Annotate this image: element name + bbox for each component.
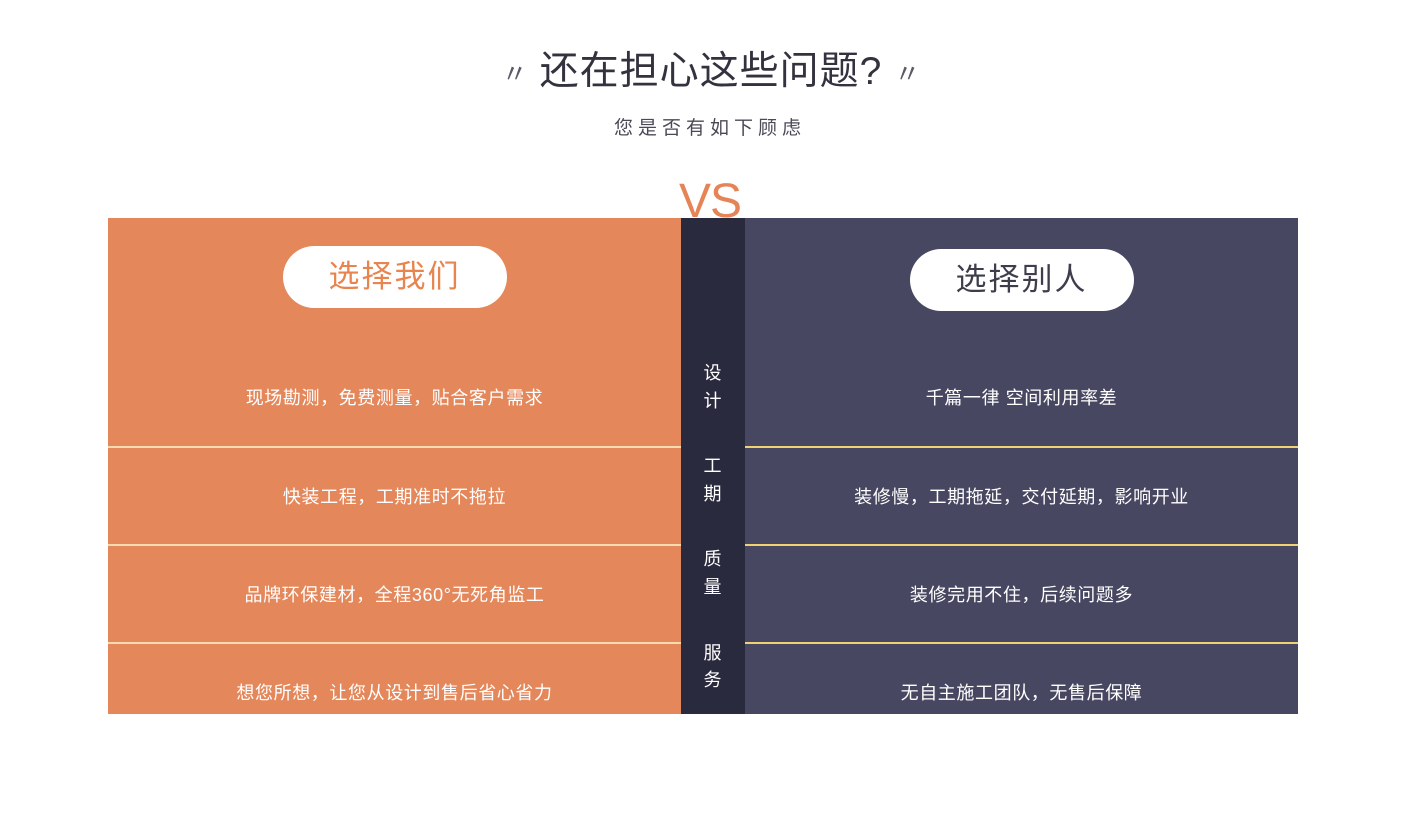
criteria-char: 量 — [704, 574, 723, 602]
close-quote-icon: 〃 — [894, 62, 918, 88]
comparison-board: 选择我们 现场勘测，免费测量，贴合客户需求 快装工程，工期准时不拖拉 品牌环保建… — [108, 218, 1298, 714]
table-row: 无自主施工团队，无售后保障 — [745, 642, 1298, 740]
title-row: 〃 还在担心这些问题? 〃 — [0, 52, 1420, 91]
criteria-char: 期 — [704, 481, 723, 509]
open-quote-icon: 〃 — [502, 62, 526, 88]
page-title: 还在担心这些问题? — [540, 52, 883, 91]
criteria-char: 工 — [704, 453, 723, 481]
criteria-char: 设 — [704, 360, 723, 388]
ours-header: 选择我们 — [108, 218, 681, 348]
criteria-label-design: 设 计 — [681, 342, 745, 435]
table-row: 想您所想，让您从设计到售后省心省力 — [108, 642, 681, 740]
table-row: 装修完用不住，后续问题多 — [745, 544, 1298, 642]
column-ours: 选择我们 现场勘测，免费测量，贴合客户需求 快装工程，工期准时不拖拉 品牌环保建… — [108, 218, 681, 714]
column-others: 选择别人 千篇一律 空间利用率差 装修慢，工期拖延，交付延期，影响开业 装修完用… — [745, 218, 1298, 714]
table-row: 快装工程，工期准时不拖拉 — [108, 446, 681, 544]
criteria-header-spacer — [681, 218, 745, 342]
page-subtitle: 您是否有如下顾虑 — [0, 113, 1420, 140]
table-row: 现场勘测，免费测量，贴合客户需求 — [108, 348, 681, 446]
table-row: 装修慢，工期拖延，交付延期，影响开业 — [745, 446, 1298, 544]
ours-row-list: 现场勘测，免费测量，贴合客户需求 快装工程，工期准时不拖拉 品牌环保建材，全程3… — [108, 348, 681, 740]
others-pill-label: 选择别人 — [910, 249, 1134, 311]
column-criteria: 设 计 工 期 质 量 服 务 — [681, 218, 745, 714]
criteria-char: 服 — [704, 640, 723, 668]
criteria-label-service: 服 务 — [681, 621, 745, 714]
criteria-label-quality: 质 量 — [681, 528, 745, 621]
others-header: 选择别人 — [745, 218, 1298, 348]
table-row: 品牌环保建材，全程360°无死角监工 — [108, 544, 681, 642]
page-header: 〃 还在担心这些问题? 〃 您是否有如下顾虑 — [0, 0, 1420, 140]
criteria-char: 计 — [704, 388, 723, 416]
criteria-char: 质 — [704, 546, 723, 574]
criteria-label-schedule: 工 期 — [681, 435, 745, 528]
table-row: 千篇一律 空间利用率差 — [745, 348, 1298, 446]
others-row-list: 千篇一律 空间利用率差 装修慢，工期拖延，交付延期，影响开业 装修完用不住，后续… — [745, 348, 1298, 740]
ours-pill-label: 选择我们 — [283, 246, 507, 308]
criteria-char: 务 — [704, 667, 723, 695]
